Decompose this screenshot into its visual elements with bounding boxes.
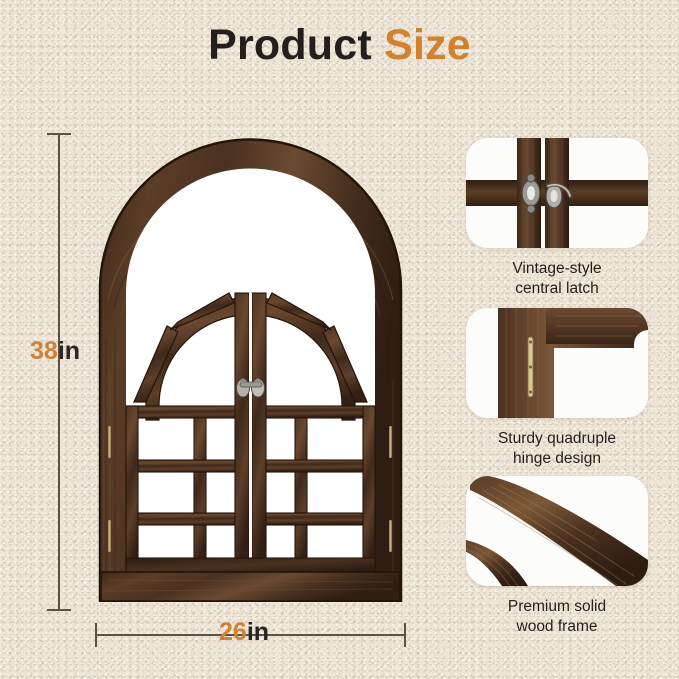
feature-card-quadruple-hinge[interactable]: Sturdy quadruple hinge design (466, 308, 648, 470)
height-dimension-cap-top (47, 133, 71, 135)
feature-caption-line2: central latch (466, 279, 648, 299)
width-dimension-cap-left (95, 623, 97, 647)
page-title-accent: Size (384, 21, 471, 69)
feature-image-vintage-latch (466, 138, 648, 248)
height-value: 38 (30, 337, 58, 365)
width-unit: in (247, 618, 269, 646)
height-dimension-cap-bottom (47, 609, 71, 611)
feature-caption-line1: Vintage-style (466, 259, 648, 279)
height-dimension-label: 38in (30, 337, 80, 366)
width-value: 26 (219, 618, 247, 646)
brass-hinge-icon (528, 337, 533, 397)
width-dimension-cap-right (404, 623, 406, 647)
feature-card-solid-wood-frame[interactable]: Premium solid wood frame (466, 476, 648, 638)
feature-image-solid-wood-frame (466, 476, 648, 586)
feature-caption-solid-wood-frame: Premium solid wood frame (466, 597, 648, 638)
feature-caption-quadruple-hinge: Sturdy quadruple hinge design (466, 429, 648, 470)
feature-caption-line1: Premium solid (466, 597, 648, 617)
height-unit: in (58, 337, 80, 365)
window-sill (101, 558, 400, 601)
feature-caption-line2: wood frame (466, 617, 648, 637)
page-title: Product Size (0, 24, 679, 67)
feature-caption-line2: hinge design (466, 449, 648, 469)
height-dimension-line (58, 133, 60, 611)
feature-caption-vintage-latch: Vintage-style central latch (466, 259, 648, 300)
feature-card-vintage-latch[interactable]: Vintage-style central latch (466, 138, 648, 300)
product-image-arched-window (88, 130, 413, 602)
page-title-primary: Product (208, 21, 372, 69)
center-meeting-stiles (235, 293, 266, 570)
width-dimension-label: 26in (219, 618, 269, 647)
feature-caption-line1: Sturdy quadruple (466, 429, 648, 449)
feature-image-quadruple-hinge (466, 308, 648, 418)
